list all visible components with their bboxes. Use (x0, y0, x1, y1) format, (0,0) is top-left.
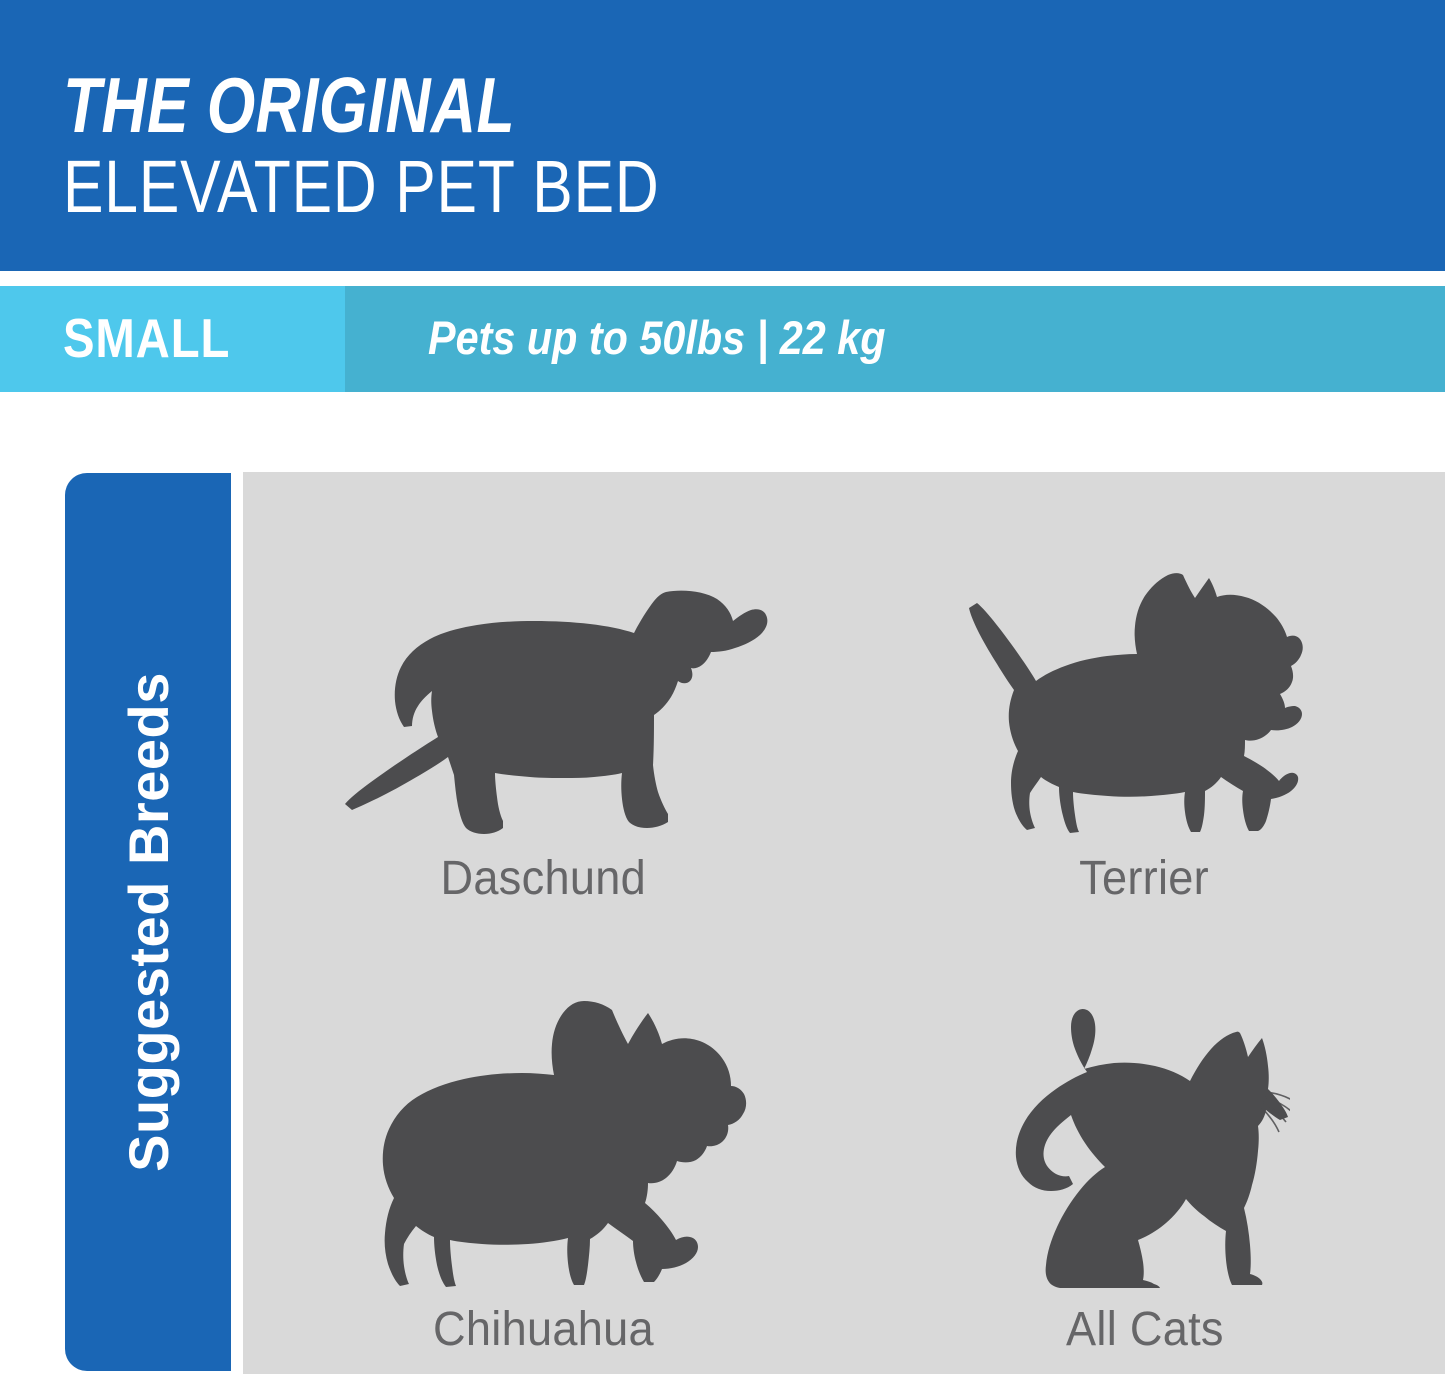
size-name-label: SMALL (63, 305, 230, 371)
breed-cell-daschund: Daschund (243, 472, 844, 923)
breed-cell-all-cats: All Cats (844, 923, 1445, 1374)
pet-bed-size-infographic: THE ORIGINAL ELEVATED PET BED SMALL Pets… (0, 0, 1445, 1374)
breed-label-chihuahua: Chihuahua (433, 1304, 654, 1356)
brand-title-primary: THE ORIGINAL (63, 66, 515, 144)
size-weight-capacity-label: Pets up to 50lbs | 22 kg (428, 308, 885, 368)
breed-label-daschund: Daschund (441, 853, 646, 905)
suggested-breeds-sidebar-label: Suggested Breeds (65, 473, 231, 1371)
terrier-silhouette-icon (965, 559, 1325, 839)
chihuahua-silhouette-icon (324, 1000, 764, 1290)
breeds-grid: Daschund Terrier Chihuahua (243, 472, 1445, 1374)
suggested-breeds-panel: Daschund Terrier Chihuahua (243, 472, 1445, 1374)
breed-label-terrier: Terrier (1080, 853, 1210, 905)
breed-label-all-cats: All Cats (1066, 1304, 1224, 1356)
suggested-breeds-sidebar: Suggested Breeds (65, 473, 231, 1371)
breed-cell-chihuahua: Chihuahua (243, 923, 844, 1374)
brand-title-secondary: ELEVATED PET BED (63, 150, 660, 224)
cat-silhouette-icon (1000, 1000, 1290, 1290)
breed-cell-terrier: Terrier (844, 472, 1445, 923)
dachshund-silhouette-icon (314, 579, 774, 839)
header-banner: THE ORIGINAL ELEVATED PET BED (0, 0, 1445, 271)
